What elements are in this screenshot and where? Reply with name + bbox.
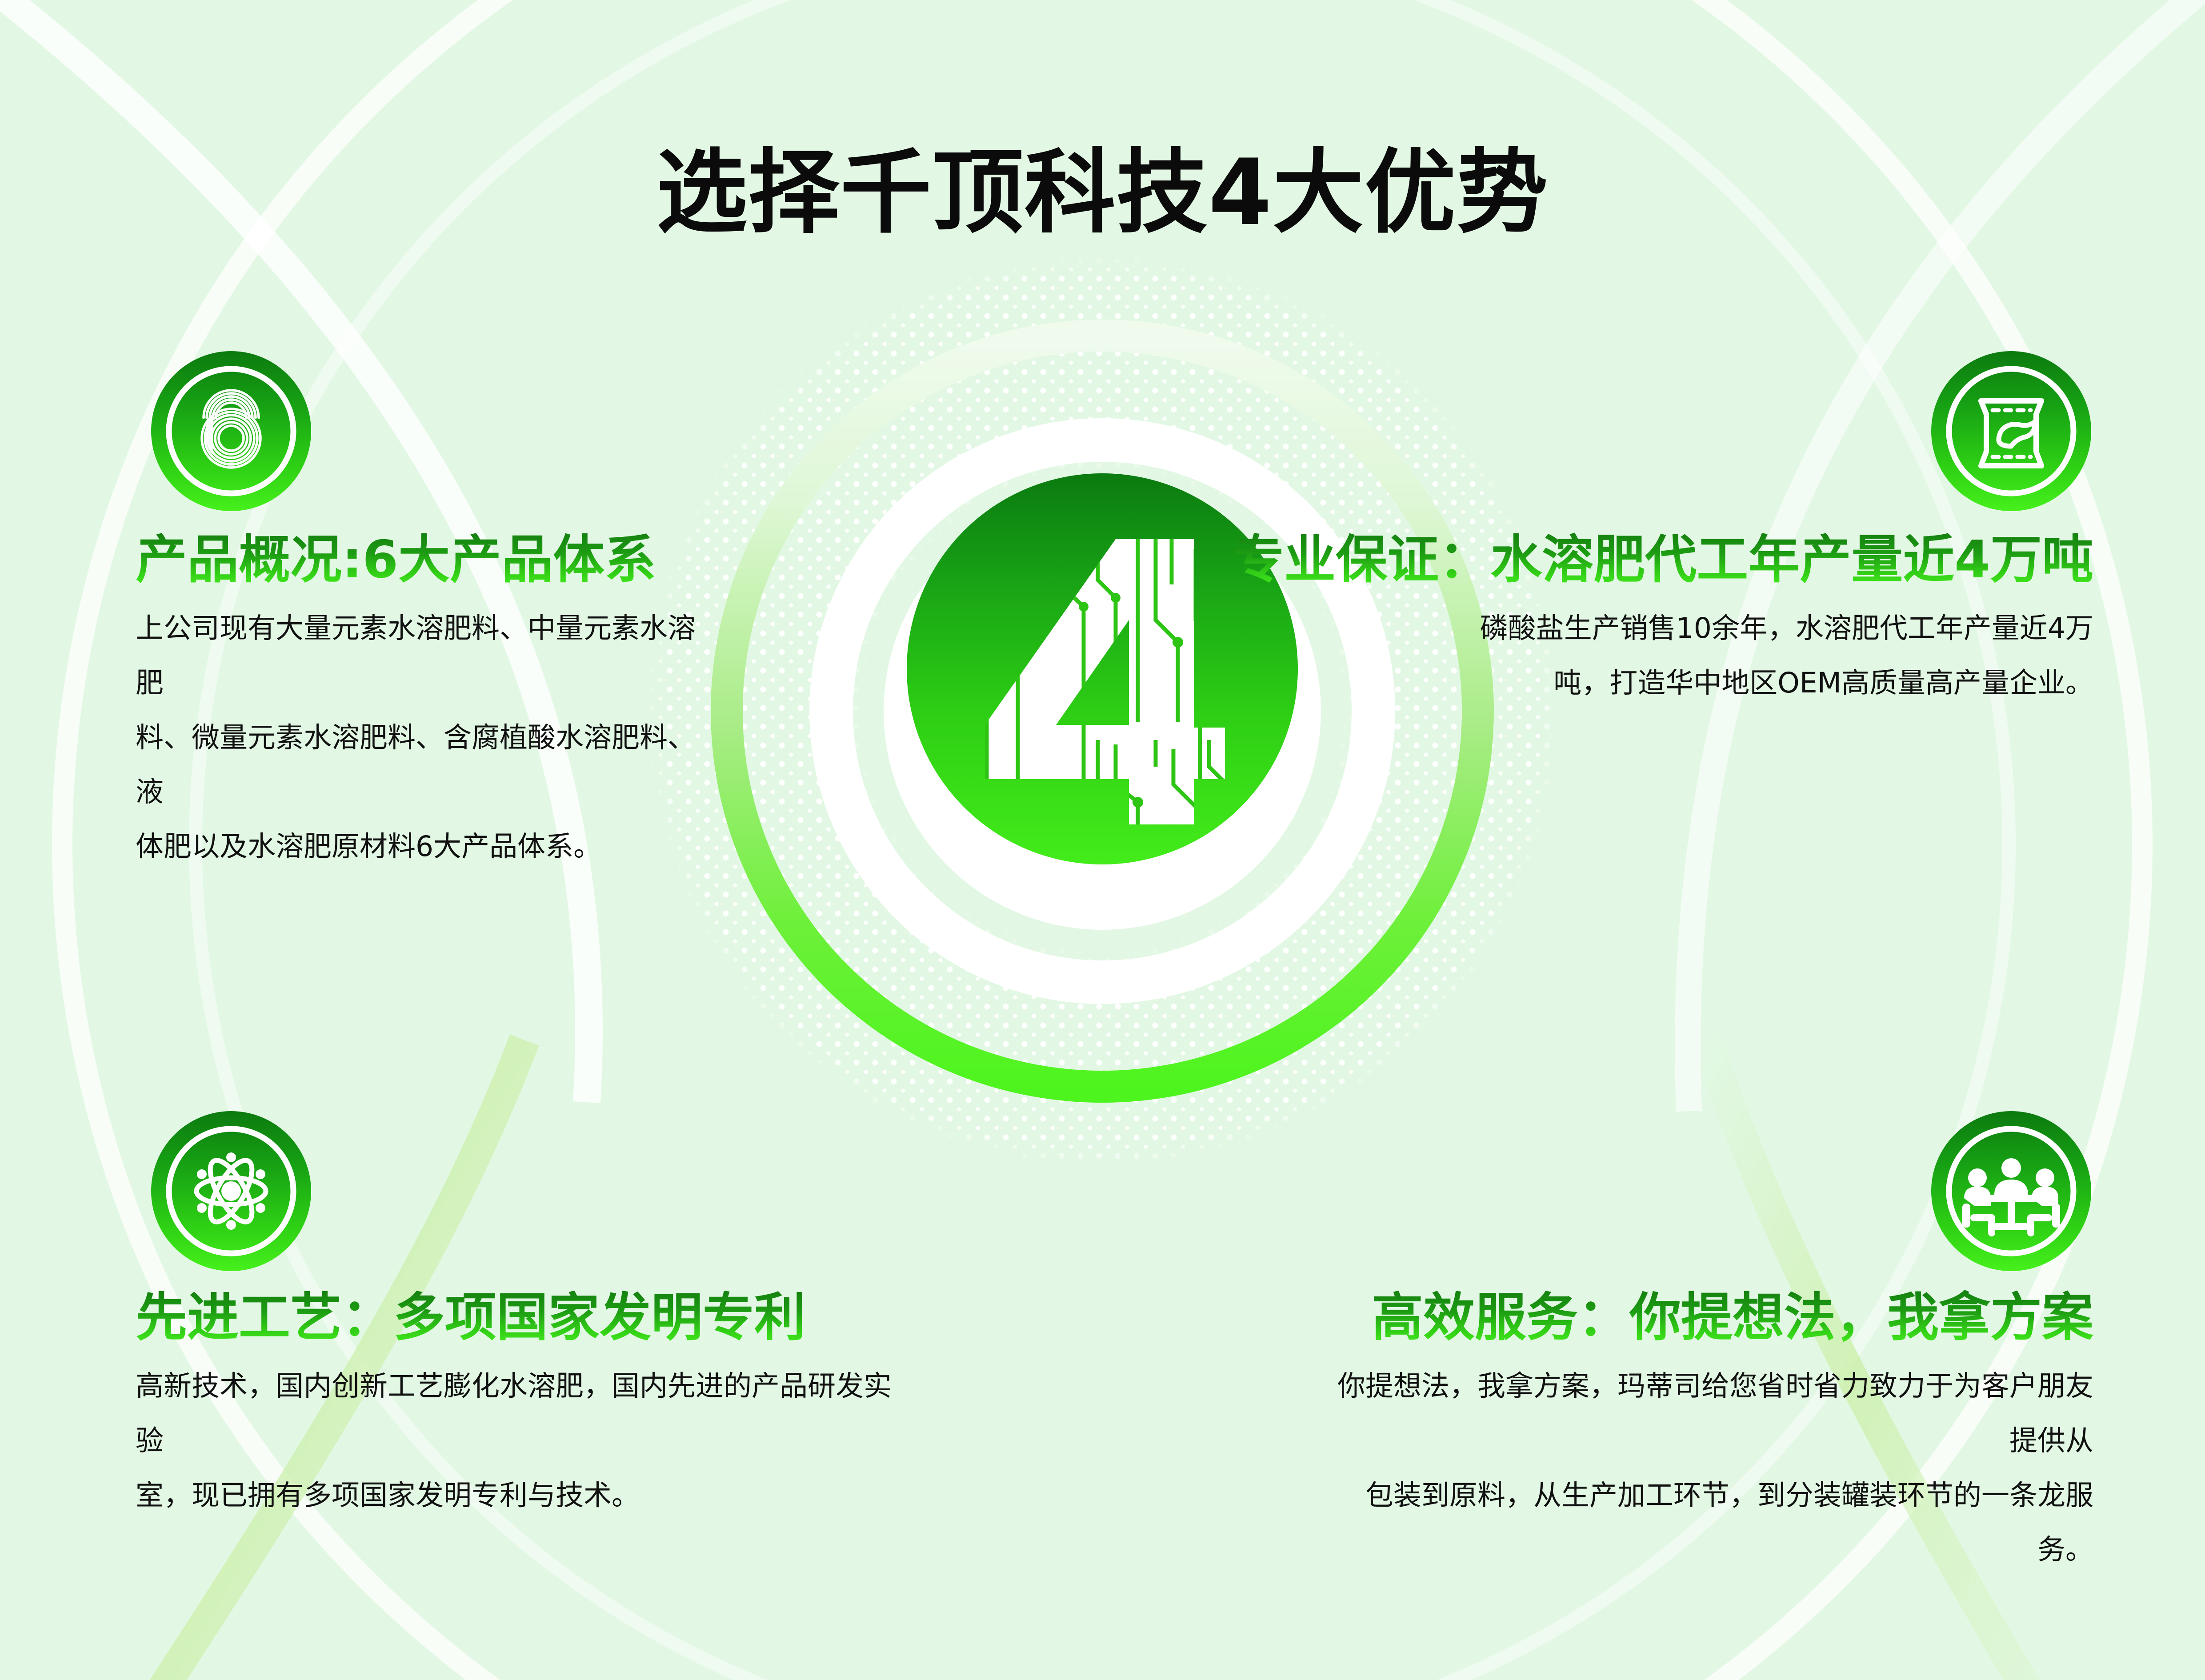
advantage-body: 上公司现有大量元素水溶肥料、中量元素水溶肥 料、微量元素水溶肥料、含腐植酸水溶肥… xyxy=(136,601,704,874)
body-line: 料、微量元素水溶肥料、含腐植酸水溶肥料、液 xyxy=(136,711,704,820)
body-line: 体肥以及水溶肥原材料6大产品体系。 xyxy=(136,820,704,874)
number-six-rings-icon xyxy=(151,351,311,511)
body-line: 上公司现有大量元素水溶肥料、中量元素水溶肥 xyxy=(136,601,704,711)
advantage-body: 高新技术，国内创新工艺膨化水溶肥，国内先进的产品研发实验 室，现已拥有多项国家发… xyxy=(136,1359,900,1523)
advantage-body: 你提想法，我拿方案，玛蒂司给您省时省力致力于为客户朋友提供从 包装到原料，从生产… xyxy=(1311,1359,2093,1577)
fertilizer-bag-icon xyxy=(1931,351,2091,511)
icon-badge-professional-guarantee[interactable] xyxy=(1931,351,2091,511)
body-line: 你提想法，我拿方案，玛蒂司给您省时省力致力于为客户朋友提供从 xyxy=(1311,1359,2093,1468)
infographic-canvas: 选择千顶科技4大优势 xyxy=(0,0,2205,1680)
center-graphic xyxy=(647,256,1558,1167)
atom-icon xyxy=(151,1111,311,1271)
advantage-heading: 专业保证：水溶肥代工年产量近4万吨 xyxy=(1178,531,2093,589)
icon-badge-efficient-service[interactable] xyxy=(1931,1111,2091,1271)
advantage-heading: 产品概况:6大产品体系 xyxy=(136,531,704,589)
body-line: 室，现已拥有多项国家发明专利与技术。 xyxy=(136,1468,900,1523)
meeting-team-icon xyxy=(1931,1111,2091,1271)
body-line: 磷酸盐生产销售10余年，水溶肥代工年产量近4万 xyxy=(1178,601,2093,656)
advantage-block-advanced-process: 先进工艺：多项国家发明专利 高新技术，国内创新工艺膨化水溶肥，国内先进的产品研发… xyxy=(136,1289,900,1523)
advantage-block-efficient-service: 高效服务：你提想法，我拿方案 你提想法，我拿方案，玛蒂司给您省时省力致力于为客户… xyxy=(1311,1289,2093,1577)
advantage-block-professional-guarantee: 专业保证：水溶肥代工年产量近4万吨 磷酸盐生产销售10余年，水溶肥代工年产量近4… xyxy=(1178,531,2093,711)
advantage-block-product-overview: 产品概况:6大产品体系 上公司现有大量元素水溶肥料、中量元素水溶肥 料、微量元素… xyxy=(136,531,704,874)
body-line: 吨，打造华中地区OEM高质量高产量企业。 xyxy=(1178,656,2093,711)
advantage-heading: 先进工艺：多项国家发明专利 xyxy=(136,1289,900,1347)
advantage-heading: 高效服务：你提想法，我拿方案 xyxy=(1311,1289,2093,1347)
advantage-body: 磷酸盐生产销售10余年，水溶肥代工年产量近4万 吨，打造华中地区OEM高质量高产… xyxy=(1178,601,2093,711)
page-title: 选择千顶科技4大优势 xyxy=(0,143,2205,244)
body-line: 包装到原料，从生产加工环节，到分装罐装环节的一条龙服务。 xyxy=(1311,1468,2093,1578)
icon-badge-product-overview[interactable] xyxy=(151,351,311,511)
body-line: 高新技术，国内创新工艺膨化水溶肥，国内先进的产品研发实验 xyxy=(136,1359,900,1468)
icon-badge-advanced-process[interactable] xyxy=(151,1111,311,1271)
